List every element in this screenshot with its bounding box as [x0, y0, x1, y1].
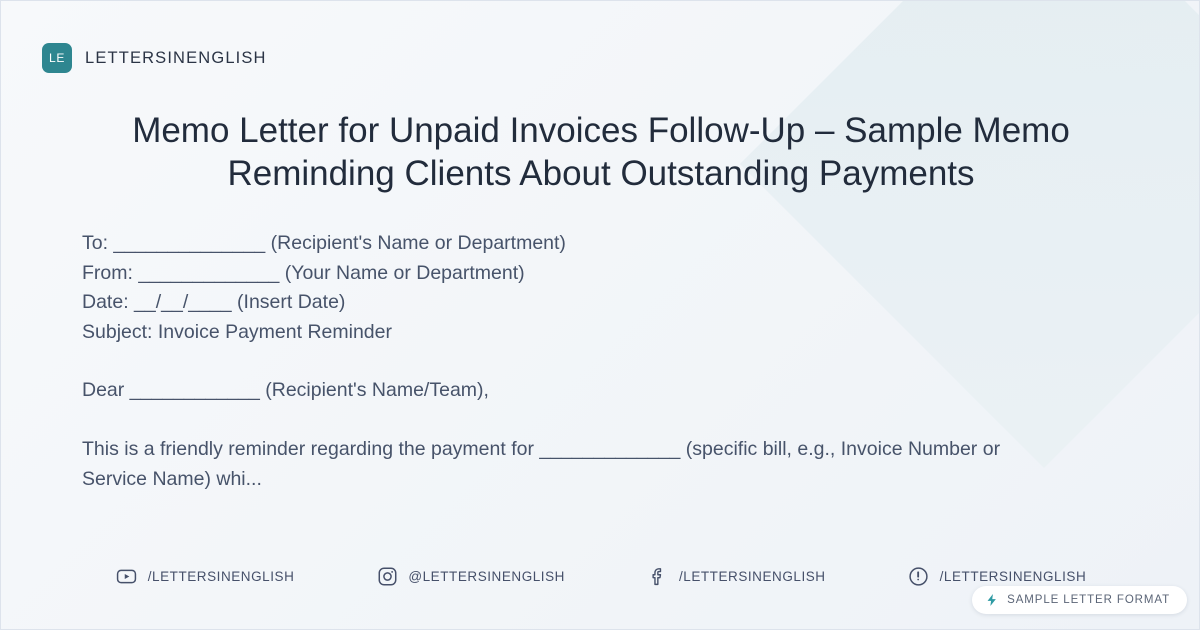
sample-letter-format-badge[interactable]: SAMPLE LETTER FORMAT [972, 586, 1187, 614]
letter-spacer-1 [82, 347, 1057, 376]
social-label-facebook: /LETTERSINENGLISH [679, 569, 826, 584]
letter-body: To: ______________ (Recipient's Name or … [82, 229, 1057, 494]
instagram-icon [376, 565, 398, 587]
card-content: LE LETTERSINENGLISH Memo Letter for Unpa… [1, 1, 1199, 629]
social-link-youtube[interactable]: /LETTERSINENGLISH [116, 565, 295, 587]
social-link-facebook[interactable]: /LETTERSINENGLISH [647, 565, 826, 587]
letter-subject-line: Subject: Invoice Payment Reminder [82, 318, 1057, 348]
social-label-instagram: @LETTERSINENGLISH [408, 569, 565, 584]
pinterest-icon [908, 565, 930, 587]
youtube-icon [116, 565, 138, 587]
letter-salutation: Dear ____________ (Recipient's Name/Team… [82, 376, 1057, 406]
brand-logo-mark: LE [42, 43, 72, 73]
letter-to-line: To: ______________ (Recipient's Name or … [82, 229, 1057, 259]
brand-name-label: LETTERSINENGLISH [85, 49, 267, 68]
letter-from-line: From: _____________ (Your Name or Depart… [82, 259, 1057, 289]
letter-paragraph: This is a friendly reminder regarding th… [82, 435, 1057, 494]
social-link-pinterest[interactable]: /LETTERSINENGLISH [908, 565, 1087, 587]
social-links-row: /LETTERSINENGLISH @LETTERSINENGLISH [1, 565, 1200, 587]
letter-spacer-2 [82, 406, 1057, 435]
letter-date-line: Date: __/__/____ (Insert Date) [82, 288, 1057, 318]
facebook-icon [647, 565, 669, 587]
brand-header[interactable]: LE LETTERSINENGLISH [42, 43, 267, 73]
social-label-youtube: /LETTERSINENGLISH [148, 569, 295, 584]
letter-preview-card: LE LETTERSINENGLISH Memo Letter for Unpa… [0, 0, 1200, 630]
badge-label: SAMPLE LETTER FORMAT [1007, 594, 1170, 606]
social-label-pinterest: /LETTERSINENGLISH [940, 569, 1087, 584]
page-title: Memo Letter for Unpaid Invoices Follow-U… [1, 109, 1200, 195]
lightning-bolt-icon [985, 593, 999, 607]
social-link-instagram[interactable]: @LETTERSINENGLISH [376, 565, 565, 587]
